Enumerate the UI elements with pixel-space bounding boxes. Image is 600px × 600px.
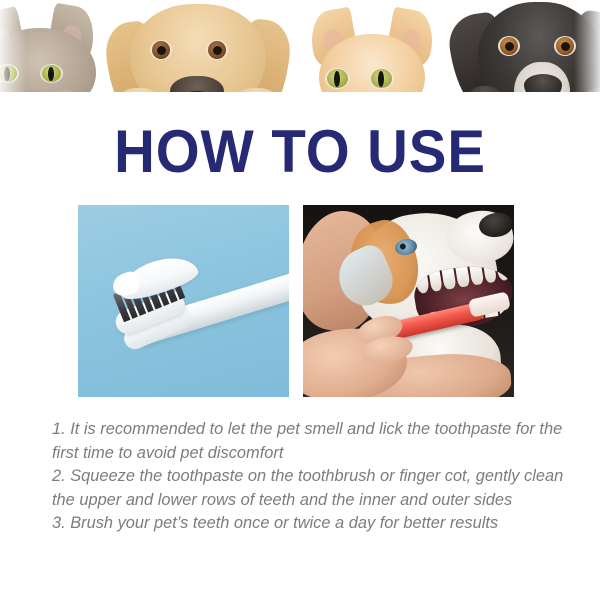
- cat-eye-left: [325, 68, 350, 89]
- white-banner-edge: [0, 92, 600, 118]
- toothbrush-with-paste-photo: [78, 205, 289, 397]
- instruction-step-2: 2. Squeeze the toothpaste on the toothbr…: [52, 465, 564, 512]
- dog-eye-right: [206, 40, 228, 60]
- how-to-use-poster: HOW TO USE: [0, 0, 600, 600]
- page-title: HOW TO USE: [18, 122, 582, 182]
- instructions-list: 1. It is recommended to let the pet smel…: [52, 418, 564, 536]
- photo-row: [78, 205, 514, 397]
- instruction-step-3: 3. Brush your pet’s teeth once or twice …: [52, 512, 564, 536]
- brushing-dog-teeth-photo: [303, 205, 514, 397]
- dog-eye-left: [498, 36, 520, 56]
- cat-eye-right: [40, 64, 63, 83]
- instruction-step-1: 1. It is recommended to let the pet smel…: [52, 418, 564, 465]
- cat-eye-right: [369, 68, 394, 89]
- dog-eye-left: [150, 40, 172, 60]
- pet-photo-band: [0, 0, 600, 118]
- dog-eye-right: [554, 36, 576, 56]
